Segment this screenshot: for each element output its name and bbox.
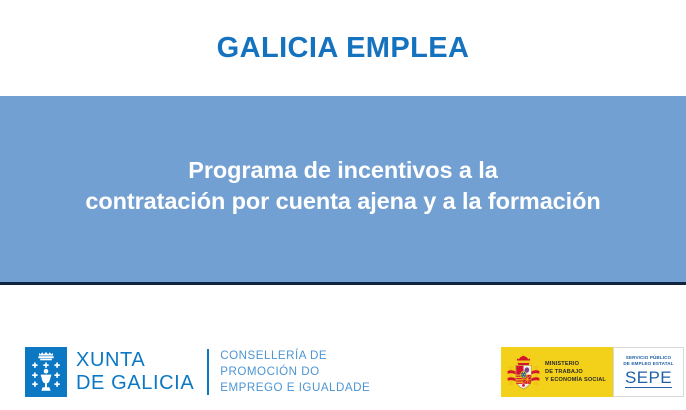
subtitle-line-1: Programa de incentivos a la	[13, 155, 673, 186]
ministry-line-3: Y ECONOMÍA SOCIAL	[545, 376, 606, 384]
sepe-tagline-line-2: DE EMPLEO ESTATAL	[623, 361, 673, 367]
ministry-block: MINISTERIO DE TRABAJO Y ECONOMÍA SOCIAL	[501, 347, 613, 397]
subtitle-band: Programa de incentivos a la contratación…	[0, 96, 686, 282]
xunta-name-line-2: DE GALICIA	[76, 372, 194, 395]
xunta-name-line-1: XUNTA	[76, 349, 194, 372]
sepe-tagline: SERVICIO PÚBLICO DE EMPLEO ESTATAL	[623, 355, 673, 367]
subtitle-line-2: contratación por cuenta ajena y a la for…	[13, 186, 673, 217]
conselleria-line-1: CONSELLERÍA DE	[220, 348, 370, 364]
conselleria-line-3: EMPREGO E IGUALDADE	[220, 380, 370, 396]
title-section: GALICIA EMPLEA	[0, 0, 686, 96]
logo-divider	[207, 349, 209, 395]
xunta-de-galicia-logo: XUNTA DE GALICIA CONSELLERÍA DE PROMOCIÓ…	[25, 347, 370, 397]
ministry-line-1: MINISTERIO	[545, 360, 606, 368]
ministry-sepe-logo: MINISTERIO DE TRABAJO Y ECONOMÍA SOCIAL …	[501, 347, 684, 397]
conselleria-line-2: PROMOCIÓN DO	[220, 364, 370, 380]
sepe-acronym: SEPE	[625, 369, 672, 388]
subtitle-text: Programa de incentivos a la contratación…	[13, 155, 673, 224]
spain-coat-of-arms-icon	[506, 352, 541, 392]
conselleria-text: CONSELLERÍA DE PROMOCIÓN DO EMPREGO E IG…	[220, 348, 370, 396]
page-title: GALICIA EMPLEA	[217, 34, 470, 63]
galicia-coat-of-arms-icon	[25, 347, 67, 397]
ministry-wordmark: MINISTERIO DE TRABAJO Y ECONOMÍA SOCIAL	[545, 360, 606, 384]
ministry-line-2: DE TRABAJO	[545, 368, 606, 376]
xunta-wordmark: XUNTA DE GALICIA	[76, 349, 194, 395]
sepe-block: SERVICIO PÚBLICO DE EMPLEO ESTATAL SEPE	[613, 347, 684, 397]
poster-slide: GALICIA EMPLEA Programa de incentivos a …	[0, 0, 686, 410]
